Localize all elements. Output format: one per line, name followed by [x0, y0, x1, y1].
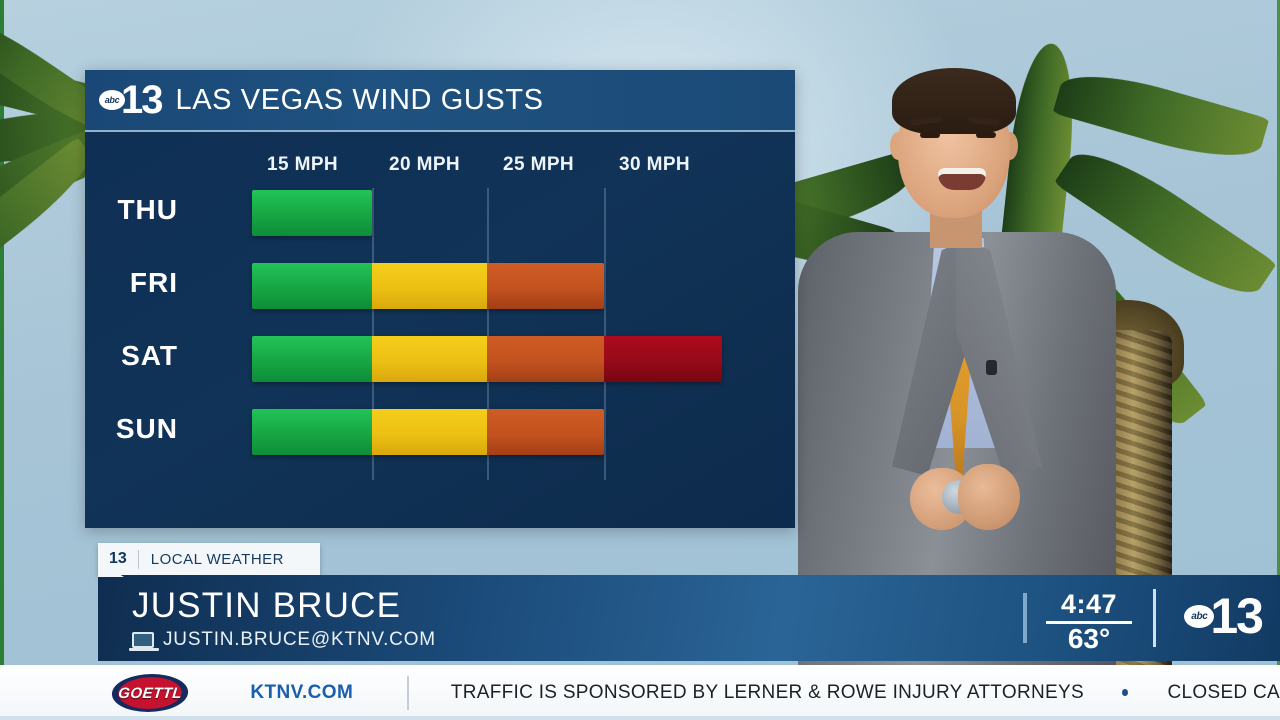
ticker-closed-caption: CLOSED CA	[1168, 682, 1280, 704]
day-label-sun: SUN	[116, 413, 178, 445]
sponsor-logo-goettl: GOETTL	[110, 674, 190, 712]
hand-right	[958, 464, 1020, 530]
laptop-icon	[132, 632, 154, 648]
bar-segment-red	[604, 336, 722, 382]
bar-fri	[252, 263, 604, 309]
bar-segment-yellow	[372, 336, 487, 382]
axis-tick-1: 20 MPH	[389, 154, 460, 176]
abc13-logo-icon: abc 13	[99, 80, 162, 120]
bar-segment-orange	[487, 409, 604, 455]
current-temperature: 63°	[1046, 623, 1132, 655]
sponsor-logo-text: GOETTL	[117, 684, 183, 701]
abc-oval-icon: abc	[1184, 605, 1214, 628]
bar-segment-green	[252, 409, 372, 455]
local-weather-bug: 13 LOCAL WEATHER	[98, 543, 320, 575]
bar-segment-orange	[487, 336, 604, 382]
chart-x-axis: 15 MPH 20 MPH 25 MPH 30 MPH	[85, 154, 795, 182]
bar-sun	[252, 409, 604, 455]
day-label-thu: THU	[117, 194, 178, 226]
anchor-name: JUSTIN BRUCE	[132, 586, 401, 626]
abc13-logo-icon-banner: abc 13	[1184, 591, 1262, 641]
bar-segment-green	[252, 263, 372, 309]
wind-gusts-graphic: abc 13 LAS VEGAS WIND GUSTS 15 MPH 20 MP…	[85, 70, 795, 528]
lower-third-banner: JUSTIN BRUCE JUSTIN.BRUCE@KTNV.COM 4:47 …	[98, 575, 1280, 661]
axis-tick-2: 25 MPH	[503, 154, 574, 176]
ticker-website: KTNV.COM	[250, 682, 353, 704]
bug-label: LOCAL WEATHER	[139, 551, 284, 568]
ticker-bullet-icon	[1122, 689, 1128, 696]
graphic-header: abc 13 LAS VEGAS WIND GUSTS	[85, 70, 795, 132]
logo-divider	[1153, 589, 1156, 647]
table-row: SAT	[85, 336, 795, 382]
page-title: LAS VEGAS WIND GUSTS	[176, 84, 544, 117]
chart-area: 15 MPH 20 MPH 25 MPH 30 MPH THU FRI SAT	[85, 132, 795, 528]
lower-third-separator	[1023, 593, 1027, 643]
bar-segment-yellow	[372, 409, 487, 455]
lapel-microphone-icon	[986, 360, 997, 375]
table-row: SUN	[85, 409, 795, 455]
day-label-fri: FRI	[130, 267, 178, 299]
news-ticker: GOETTL KTNV.COM TRAFFIC IS SPONSORED BY …	[0, 665, 1280, 720]
anchor-email: JUSTIN.BRUCE@KTNV.COM	[163, 629, 436, 651]
bar-segment-orange	[487, 263, 604, 309]
bar-segment-yellow	[372, 263, 487, 309]
table-row: THU	[85, 190, 795, 236]
table-row: FRI	[85, 263, 795, 309]
ticker-message: TRAFFIC IS SPONSORED BY LERNER & ROWE IN…	[451, 682, 1084, 704]
bar-segment-green	[252, 190, 372, 236]
ticker-divider	[407, 676, 409, 710]
mouth	[938, 168, 986, 190]
bar-thu	[252, 190, 372, 236]
day-label-sat: SAT	[121, 340, 178, 372]
clock-time: 4:47	[1046, 589, 1132, 620]
axis-tick-0: 15 MPH	[267, 154, 338, 176]
bar-sat	[252, 336, 722, 382]
eye-left	[920, 132, 940, 138]
axis-tick-3: 30 MPH	[619, 154, 690, 176]
bar-segment-green	[252, 336, 372, 382]
channel-number: 13	[1210, 591, 1262, 641]
eye-right	[976, 132, 996, 138]
anchor-email-row: JUSTIN.BRUCE@KTNV.COM	[132, 629, 436, 651]
abc-oval-icon: abc	[99, 90, 125, 110]
ticker-bottom-rule	[0, 716, 1280, 720]
channel-number: 13	[121, 80, 162, 120]
